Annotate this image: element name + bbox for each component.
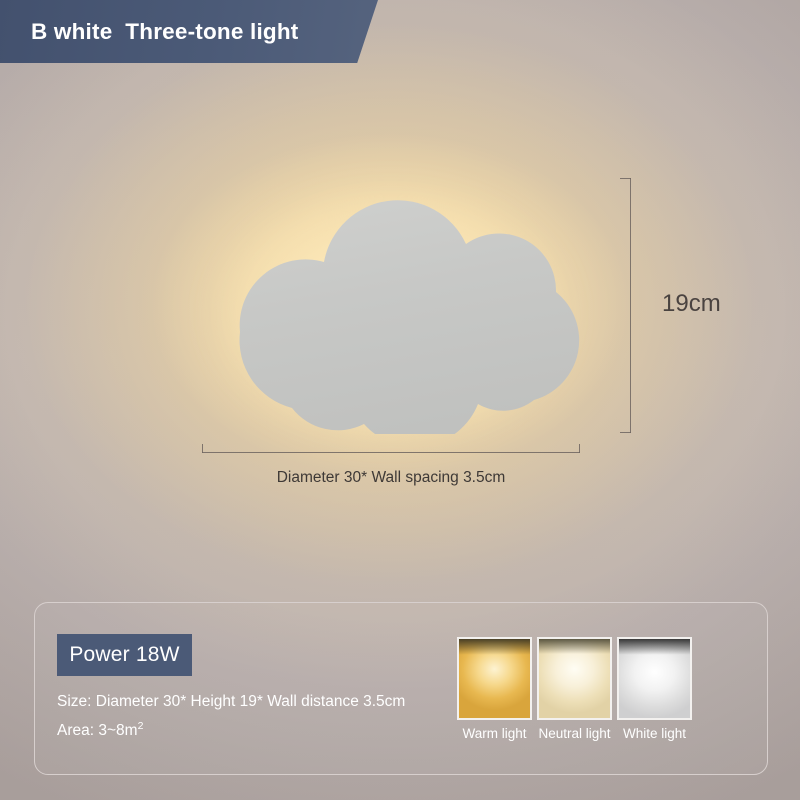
light-mode-swatches: Warm light Neutral light White light — [457, 637, 692, 741]
width-bracket-line — [202, 452, 580, 453]
light-mode-warm[interactable]: Warm light — [457, 637, 532, 741]
spec-text-block: Size: Diameter 30* Height 19* Wall dista… — [57, 689, 405, 743]
light-mode-white[interactable]: White light — [617, 637, 692, 741]
height-bracket-bottom-tick — [620, 432, 631, 433]
product-image-stage: B white Three-tone light Diameter 30* Wa… — [0, 0, 800, 800]
neutral-light-swatch[interactable] — [537, 637, 612, 720]
spec-area-text: Area: 3~8m — [57, 722, 138, 739]
spec-area-line: Area: 3~8m2 — [57, 714, 405, 743]
height-bracket-line — [630, 178, 631, 433]
warm-light-label: Warm light — [462, 726, 526, 741]
height-dimension-label: 19cm — [662, 290, 721, 318]
white-light-swatch[interactable] — [617, 637, 692, 720]
neutral-light-label: Neutral light — [538, 726, 610, 741]
cloud-shape-icon — [196, 172, 586, 434]
power-badge: Power 18W — [57, 634, 192, 676]
width-bracket-right-tick — [579, 444, 580, 453]
variant-title: B white Three-tone light — [31, 19, 299, 45]
width-dimension-caption: Diameter 30* Wall spacing 3.5cm — [202, 469, 580, 487]
light-mode-neutral[interactable]: Neutral light — [537, 637, 612, 741]
power-badge-label: Power 18W — [69, 643, 179, 667]
width-bracket-left-tick — [202, 444, 203, 453]
warm-light-swatch[interactable] — [457, 637, 532, 720]
height-bracket-top-tick — [620, 178, 631, 179]
spec-area-superscript: 2 — [138, 720, 144, 732]
variant-banner: B white Three-tone light — [0, 0, 378, 63]
white-light-label: White light — [623, 726, 686, 741]
cloud-lamp — [196, 172, 586, 434]
spec-size-line: Size: Diameter 30* Height 19* Wall dista… — [57, 689, 405, 714]
